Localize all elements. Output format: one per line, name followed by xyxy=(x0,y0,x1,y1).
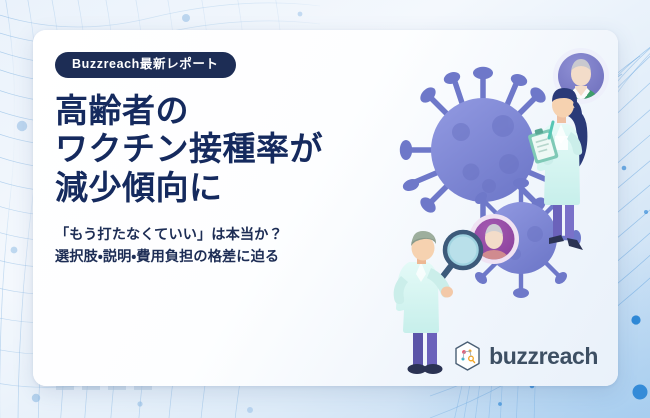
subtitle-line-2: 選択肢・説明・費用負担の格差に迫る xyxy=(55,247,385,269)
magnifier-icon xyxy=(437,232,481,284)
headline-line-3: 減少傾向に xyxy=(55,169,385,208)
subtitle-line-1: 「もう打たなくていい」は本当か？ xyxy=(55,225,385,247)
headline-line-1: 高齢者の xyxy=(55,92,385,131)
page-title: 高齢者の ワクチン接種率が 減少傾向に xyxy=(55,92,385,208)
headline-line-2: ワクチン接種率が xyxy=(55,130,385,169)
poster-stage: Buzzreach最新レポート 高齢者の ワクチン接種率が 減少傾向に 「もう打… xyxy=(0,0,650,418)
brand-logo: buzzreach xyxy=(454,341,598,371)
report-card: Buzzreach最新レポート 高齢者の ワクチン接種率が 減少傾向に 「もう打… xyxy=(33,30,618,386)
hexagon-molecule-icon xyxy=(454,341,481,371)
brand-name: buzzreach xyxy=(489,345,598,368)
report-badge: Buzzreach最新レポート xyxy=(55,52,236,78)
illustration xyxy=(363,30,618,386)
copy-block: Buzzreach最新レポート 高齢者の ワクチン接種率が 減少傾向に 「もう打… xyxy=(55,52,385,268)
subtitle: 「もう打たなくていい」は本当か？ 選択肢・説明・費用負担の格差に迫る xyxy=(55,225,385,268)
